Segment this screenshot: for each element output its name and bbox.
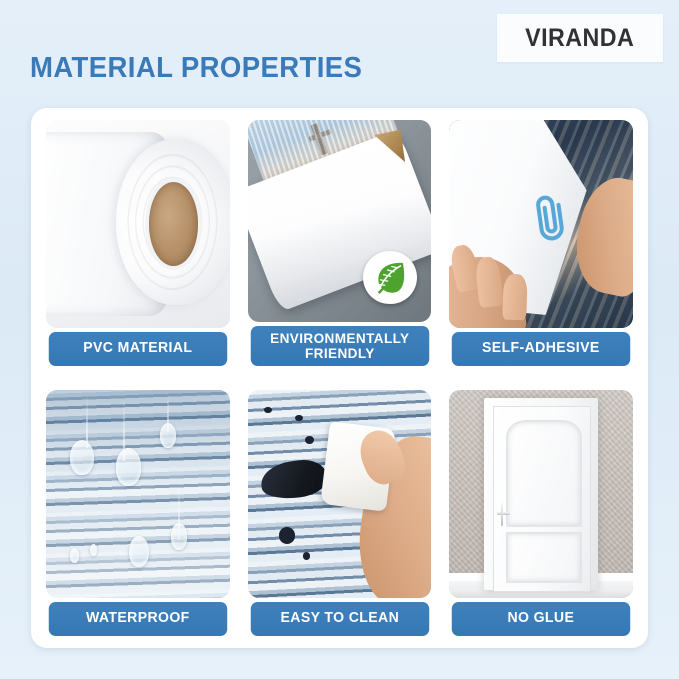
paperclip-icon	[532, 191, 572, 245]
feature-card-self-adhesive[interactable]: SELF-ADHESIVE	[449, 120, 633, 366]
infographic-page: VIRANDA MATERIAL PROPERTIES PVC MATERIAL	[0, 0, 679, 679]
stain-dot-6	[303, 552, 310, 559]
water-droplet-3	[160, 423, 177, 448]
feature-label-self-adhesive: SELF-ADHESIVE	[452, 332, 630, 366]
handle-rose	[501, 502, 504, 526]
feature-card-no-glue[interactable]: NO GLUE	[449, 390, 633, 636]
blue-wood-grain-background	[46, 390, 230, 598]
pvc-roll-image	[46, 120, 230, 328]
water-droplet-5	[171, 523, 188, 550]
feature-card-pvc-material[interactable]: PVC MATERIAL	[46, 120, 230, 366]
finger-3	[502, 274, 527, 321]
feature-label-easy-to-clean: EASY TO CLEAN	[250, 602, 428, 636]
door-upper-panel	[506, 420, 583, 527]
no-glue-image	[449, 390, 633, 598]
white-door	[493, 406, 591, 592]
feature-label-no-glue: NO GLUE	[452, 602, 630, 636]
cardboard-core	[149, 182, 199, 265]
stain-dot-2	[295, 415, 302, 421]
features-panel: PVC MATERIAL	[31, 108, 648, 648]
feature-label-waterproof: WATERPROOF	[49, 602, 227, 636]
pier-post	[311, 123, 329, 156]
waterproof-image	[46, 390, 230, 598]
handle-lever	[497, 512, 509, 515]
stain-dot-1	[264, 407, 271, 413]
door-handle-icon	[497, 502, 509, 526]
brand-name: VIRANDA	[525, 24, 634, 53]
water-droplet-2	[116, 448, 142, 485]
pier-plank	[309, 129, 332, 142]
feature-card-environmentally-friendly[interactable]: ENVIRONMENTALLY FRIENDLY	[248, 120, 432, 366]
water-trail-1	[86, 394, 88, 448]
green-leaf-icon	[363, 251, 416, 304]
feature-label-pvc-material: PVC MATERIAL	[49, 332, 227, 366]
water-droplet-1	[70, 440, 94, 475]
brand-logo-badge: VIRANDA	[497, 14, 663, 62]
feature-card-easy-to-clean[interactable]: EASY TO CLEAN	[248, 390, 432, 636]
feature-card-waterproof[interactable]: WATERPROOF	[46, 390, 230, 636]
door-lower-panel	[506, 532, 583, 584]
easy-to-clean-image	[248, 390, 432, 598]
stain-dot-3	[305, 436, 314, 444]
door-frame	[484, 398, 598, 589]
self-adhesive-image	[449, 120, 633, 328]
feature-label-environmentally-friendly: ENVIRONMENTALLY FRIENDLY	[250, 326, 428, 366]
features-grid: PVC MATERIAL	[46, 120, 633, 636]
page-title: MATERIAL PROPERTIES	[30, 52, 362, 85]
water-droplet-4	[129, 536, 149, 567]
eco-roll-image	[248, 120, 432, 322]
water-droplet-6	[70, 548, 79, 563]
